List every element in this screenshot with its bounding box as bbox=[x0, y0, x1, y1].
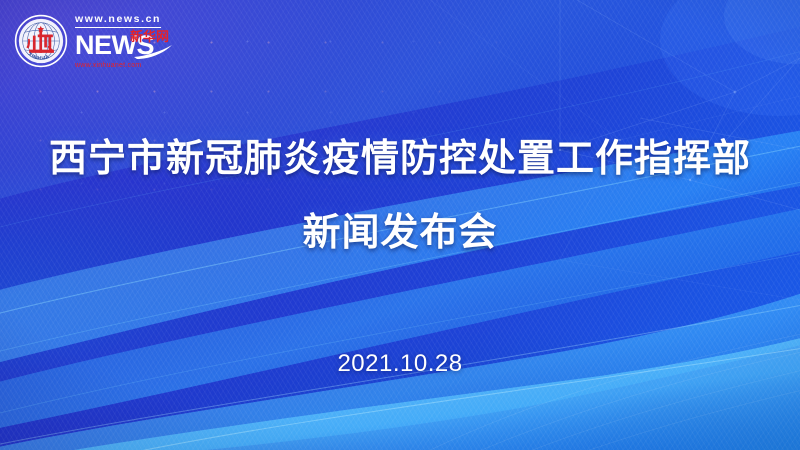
headline-block: 西宁市新冠肺炎疫情防控处置工作指挥部 新闻发布会 bbox=[0, 132, 800, 258]
wordmark-main: NEWS 新华网 bbox=[75, 30, 167, 60]
swoosh-icon bbox=[133, 45, 173, 59]
title-line-2: 新闻发布会 bbox=[0, 206, 800, 258]
xinhua-wordmark: www.news.cn NEWS 新华网 www.xinhuanet.com bbox=[75, 14, 167, 69]
press-conference-banner: XINHUA www.news.cn NEWS 新华网 www.xinhuane… bbox=[0, 0, 800, 450]
event-date: 2021.10.28 bbox=[0, 350, 800, 378]
xinhuawang-chinese-text: 新华网 bbox=[130, 31, 169, 45]
xinhuanet-url: www.xinhuanet.com bbox=[75, 62, 167, 69]
news-cn-url: www.news.cn bbox=[75, 14, 161, 28]
xinhua-logo[interactable]: XINHUA www.news.cn NEWS 新华网 www.xinhuane… bbox=[14, 14, 167, 69]
title-line-1: 西宁市新冠肺炎疫情防控处置工作指挥部 bbox=[0, 132, 800, 184]
xinhua-globe-emblem: XINHUA bbox=[14, 14, 68, 68]
